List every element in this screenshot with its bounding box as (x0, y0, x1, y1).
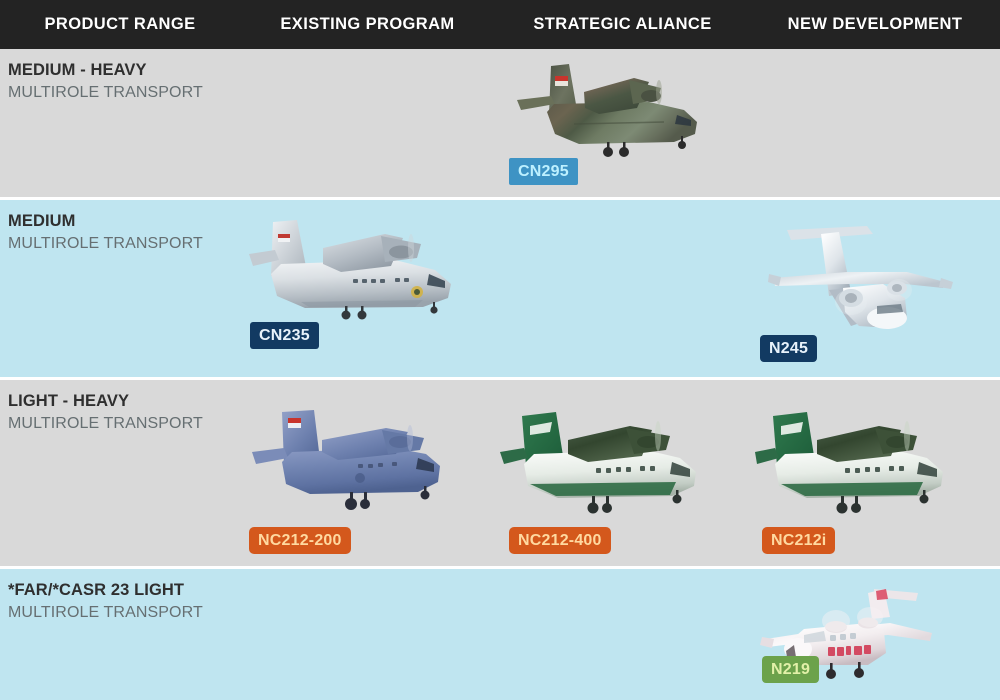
badge-cn235[interactable]: CN235 (250, 322, 319, 349)
row-medium: MEDIUM MULTIROLE TRANSPORT (0, 200, 1000, 377)
cell-medium-heavy-new (750, 49, 1000, 197)
row-label-medium-heavy: MEDIUM - HEAVY MULTIROLE TRANSPORT (0, 49, 240, 197)
row-label-medium: MEDIUM MULTIROLE TRANSPORT (0, 200, 240, 377)
aircraft-n245-image (755, 222, 960, 332)
row-subtitle: MULTIROLE TRANSPORT (8, 232, 240, 255)
badge-nc212i[interactable]: NC212i (762, 527, 835, 554)
cell-far-casr-strategic (495, 569, 750, 700)
badge-cn295[interactable]: CN295 (509, 158, 578, 185)
cell-far-casr-existing (240, 569, 495, 700)
row-label-light-heavy: LIGHT - HEAVY MULTIROLE TRANSPORT (0, 380, 240, 566)
row-label-far-casr-23-light: *FAR/*CASR 23 LIGHT MULTIROLE TRANSPORT (0, 569, 240, 700)
header-product-range: PRODUCT RANGE (0, 0, 240, 49)
cell-medium-existing: CN235 (240, 200, 495, 377)
badge-nc212-200[interactable]: NC212-200 (249, 527, 351, 554)
cell-medium-strategic (495, 200, 750, 377)
cell-medium-heavy-strategic: CN295 (495, 49, 750, 197)
badge-n245[interactable]: N245 (760, 335, 817, 362)
aircraft-nc212i-image (755, 402, 955, 522)
cell-light-heavy-existing: NC212-200 (240, 380, 495, 566)
cell-light-heavy-strategic: NC212-400 (495, 380, 750, 566)
cell-far-casr-new: N219 (750, 569, 1000, 700)
row-title: MEDIUM - HEAVY (8, 59, 240, 81)
matrix-header: PRODUCT RANGE EXISTING PROGRAM STRATEGIC… (0, 0, 1000, 49)
row-medium-heavy: MEDIUM - HEAVY MULTIROLE TRANSPORT (0, 49, 1000, 197)
row-subtitle: MULTIROLE TRANSPORT (8, 601, 240, 624)
aircraft-cn235-image (245, 212, 470, 327)
aircraft-cn295-image (499, 52, 719, 162)
row-far-casr-23-light: *FAR/*CASR 23 LIGHT MULTIROLE TRANSPORT (0, 569, 1000, 700)
badge-nc212-400[interactable]: NC212-400 (509, 527, 611, 554)
badge-n219[interactable]: N219 (762, 656, 819, 683)
cell-light-heavy-new: NC212i (750, 380, 1000, 566)
row-subtitle: MULTIROLE TRANSPORT (8, 81, 240, 104)
header-existing-program: EXISTING PROGRAM (240, 0, 495, 49)
cell-medium-new: N245 (750, 200, 1000, 377)
header-strategic-aliance: STRATEGIC ALIANCE (495, 0, 750, 49)
row-subtitle: MULTIROLE TRANSPORT (8, 412, 240, 435)
aircraft-nc212-400-image (500, 402, 715, 522)
row-title: MEDIUM (8, 210, 240, 232)
row-title: *FAR/*CASR 23 LIGHT (8, 579, 240, 601)
row-title: LIGHT - HEAVY (8, 390, 240, 412)
cell-medium-heavy-existing (240, 49, 495, 197)
row-light-heavy: LIGHT - HEAVY MULTIROLE TRANSPORT (0, 380, 1000, 566)
product-range-matrix: PRODUCT RANGE EXISTING PROGRAM STRATEGIC… (0, 0, 1000, 700)
header-new-development: NEW DEVELOPMENT (750, 0, 1000, 49)
aircraft-nc212-200-image (240, 398, 465, 523)
